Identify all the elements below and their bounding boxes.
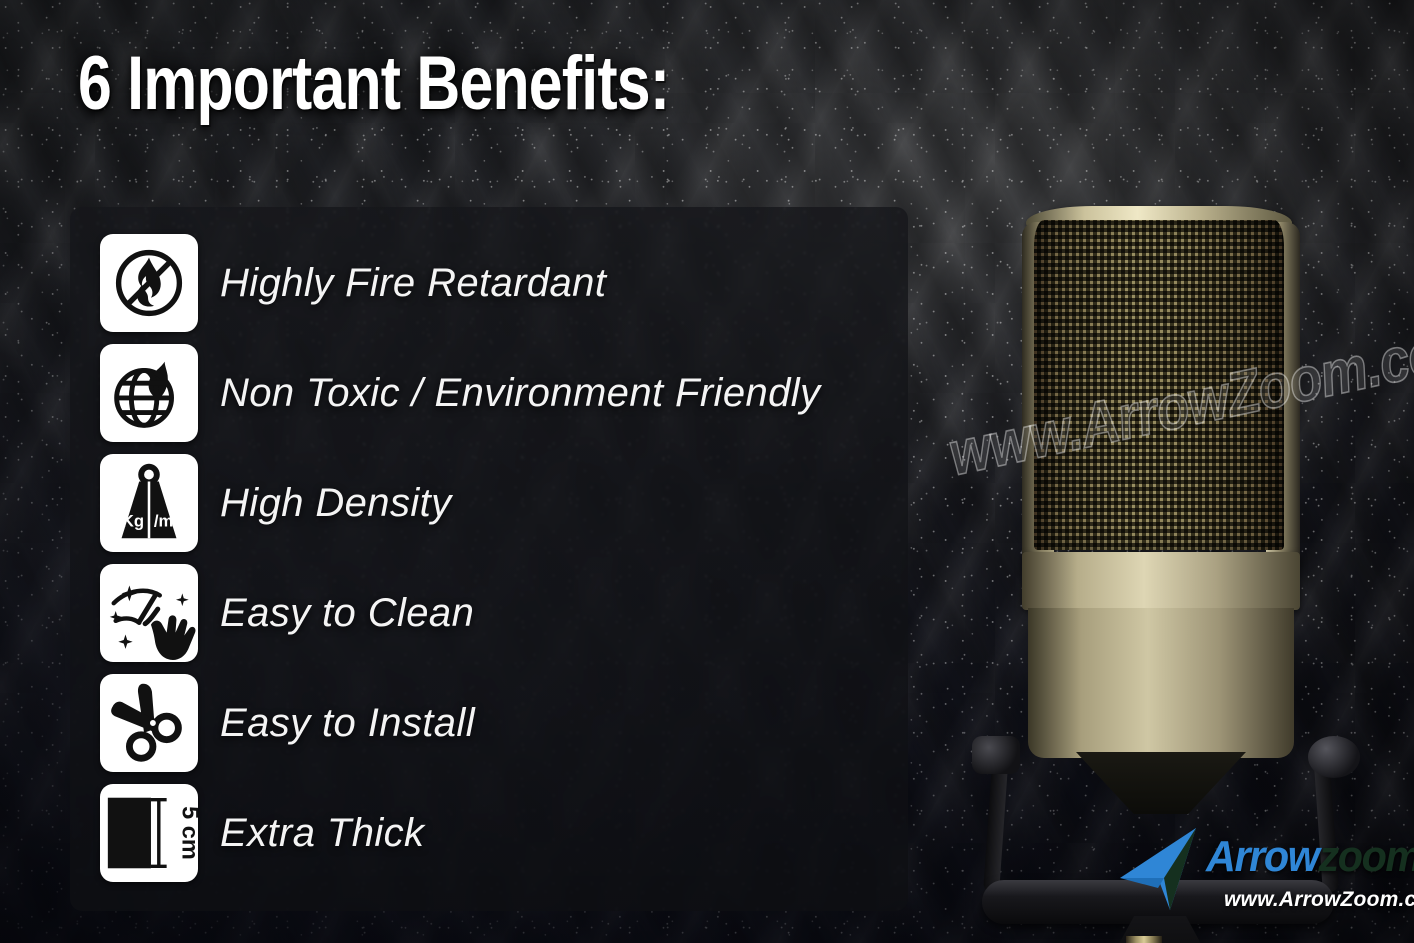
- weight-icon: 25Kg /m 3: [100, 454, 198, 552]
- weight-value: 25Kg: [103, 512, 144, 531]
- infographic-canvas: www.ArrowZoom.com 6 Important Benefits: …: [0, 0, 1414, 943]
- list-item: Easy to Install: [100, 668, 900, 778]
- list-item: Highly Fire Retardant: [100, 228, 900, 338]
- mic-body: [1028, 608, 1294, 758]
- mic-stand-shaft: [1126, 936, 1162, 943]
- benefit-label: Highly Fire Retardant: [220, 261, 606, 306]
- mic-grille: [1034, 220, 1284, 550]
- weight-exponent: 3: [180, 509, 187, 522]
- list-item: 25Kg /m 3 High Density: [100, 448, 900, 558]
- benefit-label: Easy to Install: [220, 701, 475, 746]
- cleaning-hand-icon: [100, 564, 198, 662]
- thickness-icon: 5 cm: [100, 784, 198, 882]
- list-item: Easy to Clean: [100, 558, 900, 668]
- brand-logo[interactable]: Arrowzoom www.ArrowZoom.com: [1118, 822, 1410, 926]
- page-title: 6 Important Benefits:: [78, 46, 669, 122]
- benefit-label: Easy to Clean: [220, 591, 474, 636]
- list-item: 5 cm Extra Thick: [100, 778, 900, 888]
- benefit-label: Extra Thick: [220, 811, 424, 856]
- brand-url[interactable]: www.ArrowZoom.com: [1224, 888, 1414, 912]
- mic-band: [1022, 552, 1300, 610]
- shock-mount-knob-right: [1308, 736, 1360, 778]
- benefit-label: High Density: [220, 481, 452, 526]
- brand-word-arrow: Arrow: [1206, 832, 1318, 881]
- brand-wordmark: Arrowzoom: [1206, 832, 1414, 882]
- scissors-icon: [100, 674, 198, 772]
- globe-leaf-icon: [100, 344, 198, 442]
- weight-unit: /m: [154, 512, 173, 531]
- shock-mount-knob-left: [972, 736, 1020, 774]
- no-fire-icon: [100, 234, 198, 332]
- benefits-list: Highly Fire Retardant Non Toxic / Enviro…: [100, 228, 900, 888]
- brand-word-zoom: zoom: [1318, 832, 1414, 881]
- benefit-label: Non Toxic / Environment Friendly: [220, 371, 820, 416]
- mic-taper: [1076, 752, 1246, 814]
- thickness-value: 5 cm: [177, 806, 198, 860]
- arrow-mark-icon: [1118, 826, 1214, 912]
- list-item: Non Toxic / Environment Friendly: [100, 338, 900, 448]
